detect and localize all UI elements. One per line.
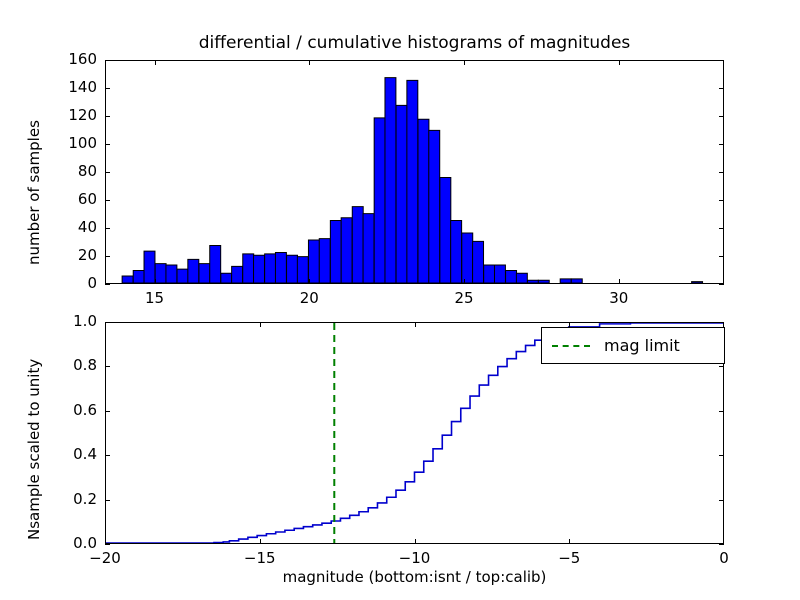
histogram-bar	[308, 240, 319, 283]
histogram-bar	[275, 252, 286, 283]
tick-mark	[260, 322, 261, 327]
top-histogram-plot-area	[106, 61, 723, 283]
histogram-bar	[254, 255, 265, 283]
histogram-bar	[287, 255, 298, 283]
tick-mark	[105, 500, 110, 501]
tick-mark	[415, 322, 416, 327]
tick-label: 80	[0, 162, 97, 180]
histogram-bar	[527, 280, 538, 283]
tick-label: −10	[365, 549, 465, 567]
tick-mark	[155, 279, 156, 284]
tick-mark	[719, 200, 724, 201]
tick-mark	[464, 60, 465, 65]
tick-label: −15	[210, 549, 310, 567]
tick-mark	[415, 539, 416, 544]
tick-label: 15	[105, 289, 205, 307]
tick-mark	[105, 88, 110, 89]
histogram-bar	[330, 221, 341, 283]
tick-label: 160	[0, 50, 97, 68]
tick-label: 20	[259, 289, 359, 307]
tick-label: 0.6	[0, 401, 97, 419]
histogram-bar	[418, 119, 429, 283]
legend-entry-mag-limit-label: mag limit	[604, 336, 680, 355]
tick-mark	[719, 116, 724, 117]
histogram-bar	[440, 178, 451, 283]
histogram-bar	[122, 276, 133, 283]
tick-label: 40	[0, 218, 97, 236]
histogram-bar	[265, 254, 276, 283]
tick-label: 0.2	[0, 490, 97, 508]
tick-mark	[105, 284, 110, 285]
tick-mark	[719, 500, 724, 501]
histogram-bar	[692, 282, 703, 283]
tick-label: 0.8	[0, 356, 97, 374]
histogram-bar	[319, 239, 330, 283]
tick-mark	[105, 228, 110, 229]
histogram-bar	[363, 214, 374, 283]
tick-mark	[719, 172, 724, 173]
histogram-bar	[429, 130, 440, 283]
tick-mark	[105, 322, 106, 327]
histogram-bar	[352, 207, 363, 283]
histogram-bar	[199, 264, 210, 283]
tick-mark	[719, 284, 724, 285]
tick-mark	[105, 144, 110, 145]
histogram-bar	[232, 266, 243, 283]
histogram-bar	[297, 257, 308, 283]
histogram-bar	[166, 265, 177, 283]
histogram-bar	[188, 259, 199, 283]
tick-mark	[105, 455, 110, 456]
tick-mark	[719, 544, 724, 545]
histogram-bar	[462, 233, 473, 283]
histogram-bar	[484, 265, 495, 283]
tick-mark	[105, 411, 110, 412]
tick-mark	[719, 256, 724, 257]
histogram-bar	[538, 280, 549, 283]
tick-label: 100	[0, 134, 97, 152]
tick-mark	[309, 279, 310, 284]
tick-label: 140	[0, 78, 97, 96]
tick-mark	[719, 411, 724, 412]
tick-label: 30	[569, 289, 669, 307]
histogram-bar	[473, 241, 484, 283]
histogram-bar	[144, 251, 155, 283]
chart-title: differential / cumulative histograms of …	[105, 33, 724, 53]
tick-label: 20	[0, 246, 97, 264]
tick-mark	[719, 366, 724, 367]
tick-mark	[105, 116, 110, 117]
tick-mark	[105, 172, 110, 173]
histogram-bar	[560, 279, 571, 283]
tick-mark	[309, 60, 310, 65]
tick-mark	[105, 366, 110, 367]
tick-mark	[619, 60, 620, 65]
histogram-bar	[494, 265, 505, 283]
tick-mark	[105, 539, 106, 544]
histogram-bar	[155, 264, 166, 283]
tick-mark	[155, 60, 156, 65]
legend-box[interactable]: mag limit	[541, 327, 725, 364]
tick-label: −20	[55, 549, 155, 567]
tick-mark	[105, 256, 110, 257]
figure-canvas: differential / cumulative histograms of …	[0, 0, 800, 600]
tick-label: 0	[674, 549, 774, 567]
top-histogram-axes	[105, 60, 724, 284]
tick-label: 60	[0, 190, 97, 208]
tick-mark	[723, 539, 724, 544]
histogram-bar	[506, 271, 517, 283]
histogram-bar	[243, 254, 254, 283]
histogram-bar	[407, 80, 418, 283]
tick-mark	[105, 60, 110, 61]
tick-mark	[105, 200, 110, 201]
tick-mark	[569, 539, 570, 544]
tick-label: 0	[0, 274, 97, 292]
tick-label: 1.0	[0, 312, 97, 330]
histogram-bar	[374, 118, 385, 283]
tick-label: 25	[414, 289, 514, 307]
histogram-bar	[221, 273, 232, 283]
tick-label: −5	[519, 549, 619, 567]
tick-mark	[719, 455, 724, 456]
tick-mark	[719, 88, 724, 89]
histogram-bar	[385, 78, 396, 283]
histogram-bar	[210, 246, 221, 283]
tick-mark	[105, 544, 110, 545]
histogram-bar	[451, 221, 462, 283]
histogram-bar	[396, 105, 407, 283]
tick-mark	[464, 279, 465, 284]
tick-label: 0.4	[0, 445, 97, 463]
tick-mark	[719, 228, 724, 229]
tick-mark	[260, 539, 261, 544]
mag-limit-line-swatch-icon	[552, 345, 590, 347]
histogram-bar	[516, 273, 527, 283]
tick-mark	[719, 144, 724, 145]
histogram-bar	[177, 269, 188, 283]
histogram-bar	[341, 218, 352, 283]
tick-mark	[719, 60, 724, 61]
tick-label: 120	[0, 106, 97, 124]
tick-mark	[619, 279, 620, 284]
x-axis-label: magnitude (bottom:isnt / top:calib)	[105, 568, 724, 586]
histogram-bar	[571, 279, 582, 283]
histogram-bar	[133, 271, 144, 283]
